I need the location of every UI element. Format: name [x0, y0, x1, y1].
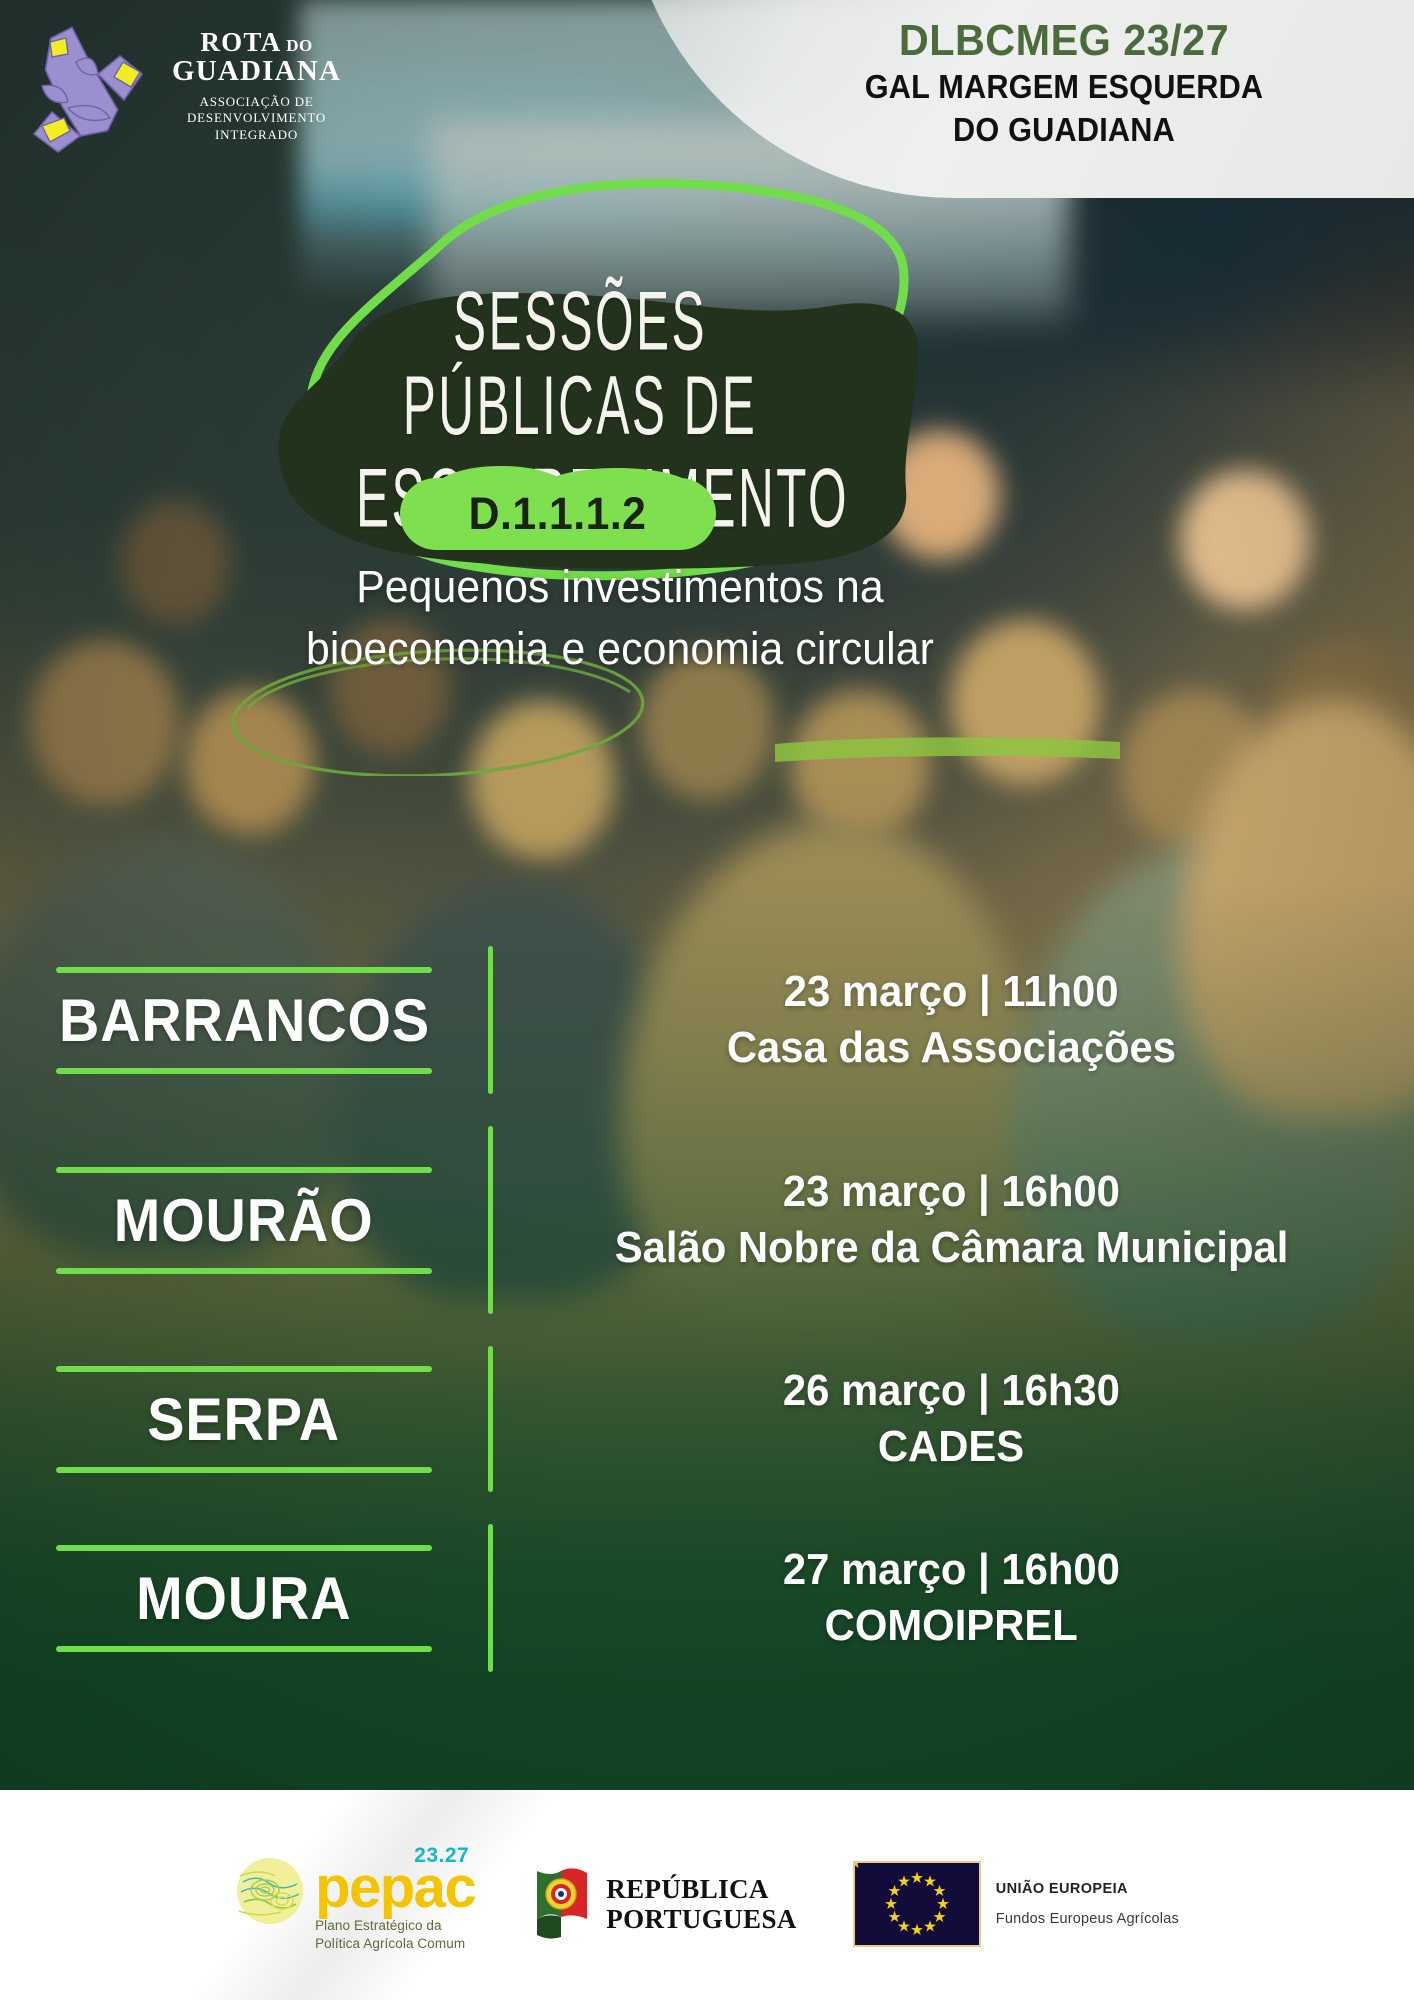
schedule-row: MOURÃO 23 março | 16h00 Salão Nobre da C… [0, 1110, 1414, 1330]
hero-title-line1: SESSÕES PÚBLICAS DE [403, 276, 757, 453]
program-badge-name-line2: DO GUADIANA [765, 111, 1364, 150]
eu-stars-icon [855, 1863, 979, 1945]
pepac-globe-icon [235, 1856, 305, 1926]
schedule-row-city-cell: BARRANCOS [0, 930, 488, 1110]
org-logo: ROTA DO GUADIANA ASSOCIAÇÃO DE DESENVOLV… [24, 16, 341, 156]
schedule-datetime: 27 março | 16h00 [783, 1543, 1120, 1597]
org-logo-sub-line2: DESENVOLVIMENTO [172, 110, 341, 127]
schedule-row: SERPA 26 março | 16h30 CADES [0, 1330, 1414, 1508]
schedule-venue: Casa das Associações [727, 1021, 1176, 1075]
schedule-city: BARRANCOS [58, 973, 429, 1068]
pepac-wordmark: pepac [315, 1862, 475, 1914]
measure-code-badge: D.1.1.1.2 [400, 478, 716, 550]
divider-line-bottom [56, 1646, 432, 1652]
divider-line-bottom [56, 1467, 432, 1473]
footer-logo-group: 23.27 pepac Plano Estratégico da Polític… [0, 1790, 1414, 2000]
portugal-shield-icon [531, 1867, 593, 1941]
schedule-row: BARRANCOS 23 março | 11h00 Casa das Asso… [0, 930, 1414, 1110]
footer-logos-bar: 23.27 pepac Plano Estratégico da Polític… [0, 1790, 1414, 2000]
hero-subtitle: Pequenos investimentos na bioeconomia e … [145, 556, 1095, 680]
org-logo-subtitle: ASSOCIAÇÃO DE DESENVOLVIMENTO INTEGRADO [172, 94, 341, 144]
republica-line2: PORTUGUESA [606, 1904, 797, 1934]
pepac-tagline-line2: Política Agrícola Comum [315, 1935, 475, 1952]
pepac-logo: 23.27 pepac Plano Estratégico da Polític… [235, 1856, 475, 1952]
org-logo-sub-line1: ASSOCIAÇÃO DE [172, 94, 341, 111]
pepac-text: 23.27 pepac Plano Estratégico da Polític… [315, 1856, 475, 1952]
schedule-row-details-cell: 23 março | 16h00 Salão Nobre da Câmara M… [493, 1110, 1414, 1330]
schedule-city: SERPA [148, 1372, 341, 1467]
program-badge-name-line1: GAL MARGEM ESQUERDA [765, 68, 1364, 107]
schedule-row-details-cell: 27 março | 16h00 COMOIPREL [493, 1508, 1414, 1688]
org-logo-line1: ROTA DO [172, 28, 341, 56]
schedule-row-city-cell: MOURA [0, 1508, 488, 1688]
republica-portuguesa-text: REPÚBLICA PORTUGUESA [606, 1874, 797, 1934]
sessions-schedule: BARRANCOS 23 março | 11h00 Casa das Asso… [0, 930, 1414, 1688]
eu-flag-icon [853, 1861, 981, 1947]
poster-root: ROTA DO GUADIANA ASSOCIAÇÃO DE DESENVOLV… [0, 0, 1414, 2000]
program-badge-text: DLBCMEG 23/27 GAL MARGEM ESQUERDA DO GUA… [742, 18, 1386, 150]
schedule-city: MOURA [136, 1551, 351, 1646]
uniao-europeia-line1: UNIÃO EUROPEIA [996, 1881, 1179, 1897]
schedule-venue: COMOIPREL [825, 1599, 1078, 1653]
schedule-venue: CADES [878, 1420, 1024, 1474]
org-logo-line2: GUADIANA [172, 56, 341, 86]
pepac-years: 23.27 [414, 1844, 469, 1868]
schedule-city: MOURÃO [114, 1173, 374, 1268]
hero-subtitle-line1: Pequenos investimentos na [145, 556, 1095, 618]
measure-code-label: D.1.1.1.2 [469, 488, 647, 540]
republica-line1: REPÚBLICA [606, 1874, 797, 1904]
schedule-datetime: 23 março | 16h00 [783, 1165, 1120, 1219]
org-logo-text: ROTA DO GUADIANA ASSOCIAÇÃO DE DESENVOLV… [172, 28, 341, 143]
uniao-europeia-text: UNIÃO EUROPEIA Fundos Europeus Agrícolas [996, 1881, 1179, 1927]
schedule-datetime: 23 março | 11h00 [784, 965, 1119, 1019]
org-logo-sub-line3: INTEGRADO [172, 127, 341, 144]
schedule-venue: Salão Nobre da Câmara Municipal [615, 1221, 1289, 1275]
program-badge-code: DLBCMEG 23/27 [761, 18, 1366, 64]
uniao-europeia-line2: Fundos Europeus Agrícolas [996, 1911, 1179, 1927]
schedule-row: MOURA 27 março | 16h00 COMOIPREL [0, 1508, 1414, 1688]
schedule-datetime: 26 março | 16h30 [783, 1364, 1120, 1418]
schedule-row-city-cell: SERPA [0, 1330, 488, 1508]
rota-guadiana-logo-icon [24, 16, 154, 156]
schedule-row-details-cell: 26 março | 16h30 CADES [493, 1330, 1414, 1508]
schedule-row-city-cell: MOURÃO [0, 1110, 488, 1330]
pepac-tagline: Plano Estratégico da Política Agrícola C… [315, 1917, 475, 1952]
divider-line-bottom [56, 1068, 432, 1074]
schedule-row-details-cell: 23 março | 11h00 Casa das Associações [493, 930, 1414, 1110]
republica-portuguesa-logo: REPÚBLICA PORTUGUESA [531, 1867, 797, 1941]
hero-subtitle-line2: bioeconomia e economia circular [145, 618, 1095, 680]
divider-line-bottom [56, 1268, 432, 1274]
uniao-europeia-logo: UNIÃO EUROPEIA Fundos Europeus Agrícolas [853, 1861, 1179, 1947]
